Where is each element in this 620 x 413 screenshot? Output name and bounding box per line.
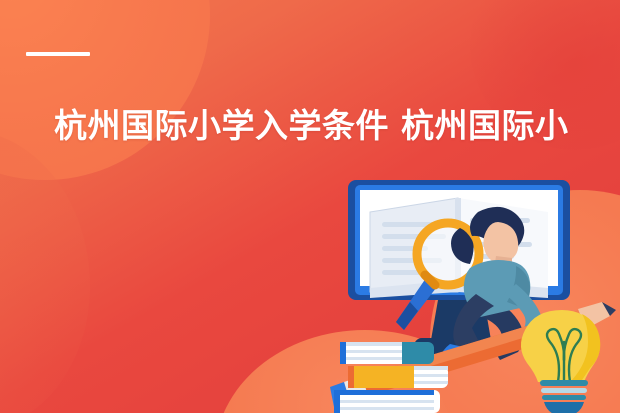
book-stack-icon: [334, 342, 448, 413]
lightbulb-icon: [521, 310, 600, 413]
promo-banner: 杭州国际小学入学条件 杭州国际小: [0, 0, 620, 413]
background-shape-left: [0, 130, 90, 413]
title-underline-rule: [26, 52, 90, 56]
background-circle-top-left: [0, 0, 210, 180]
hero-illustration: [330, 176, 620, 413]
page-title: 杭州国际小学入学条件 杭州国际小: [54, 106, 620, 146]
